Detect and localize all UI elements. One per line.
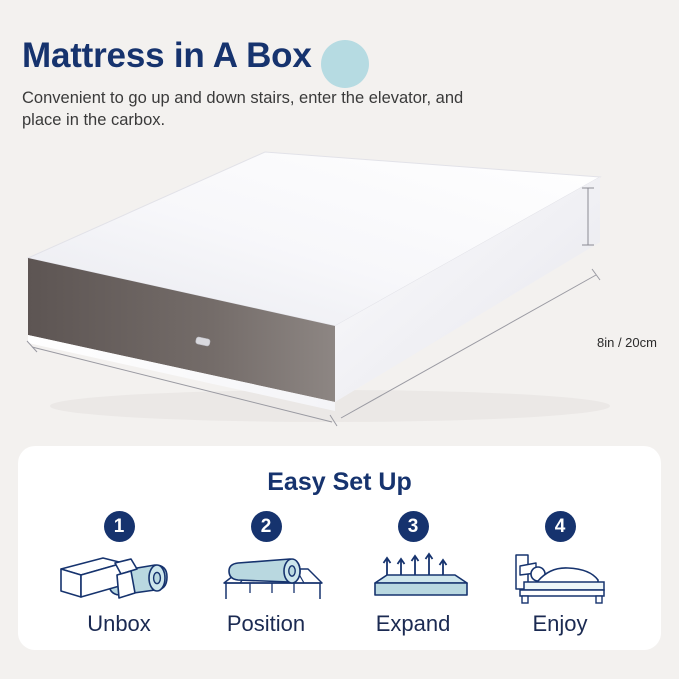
step-label-position: Position [227, 611, 305, 637]
setup-step-enjoy: 4 Enjoy [487, 511, 633, 637]
setup-step-unbox: 1 Unbox [46, 511, 192, 637]
step-label-expand: Expand [376, 611, 451, 637]
person-sleeping-in-bed-icon [498, 549, 622, 607]
expand-arrows [384, 554, 447, 577]
dimension-label-height: 8in / 20cm [597, 335, 657, 350]
page-title: Mattress in A Box [22, 34, 312, 78]
page-subtitle: Convenient to go up and down stairs, ent… [22, 87, 492, 131]
box-3d-graphic [0, 130, 679, 440]
step-label-enjoy: Enjoy [532, 611, 587, 637]
step-badge-3: 3 [398, 511, 429, 542]
setup-step-expand: 3 [340, 511, 486, 637]
step-badge-1: 1 [104, 511, 135, 542]
open-box-with-roll-icon [57, 549, 181, 607]
setup-steps-row: 1 Unbox 2 [18, 497, 661, 637]
setup-step-position: 2 [193, 511, 339, 637]
mattress-box-illustration: 8in / 20cm 75in / 191cm 39in / 99cm [0, 130, 679, 440]
expand-illustration [351, 545, 475, 607]
unbox-illustration [57, 545, 181, 607]
easy-setup-title: Easy Set Up [18, 446, 661, 497]
step-badge-2: 2 [251, 511, 282, 542]
step-badge-4: 4 [545, 511, 576, 542]
roll-on-bed-frame-icon [204, 549, 328, 607]
page-title-wrapper: Mattress in A Box [22, 34, 312, 78]
mattress-expanding-arrows-icon [351, 549, 475, 607]
position-illustration [204, 545, 328, 607]
easy-setup-card: Easy Set Up 1 Unbox [18, 446, 661, 650]
enjoy-illustration [498, 545, 622, 607]
header: Mattress in A Box Convenient to go up an… [22, 34, 542, 131]
title-accent-circle [321, 40, 369, 88]
step-label-unbox: Unbox [87, 611, 151, 637]
